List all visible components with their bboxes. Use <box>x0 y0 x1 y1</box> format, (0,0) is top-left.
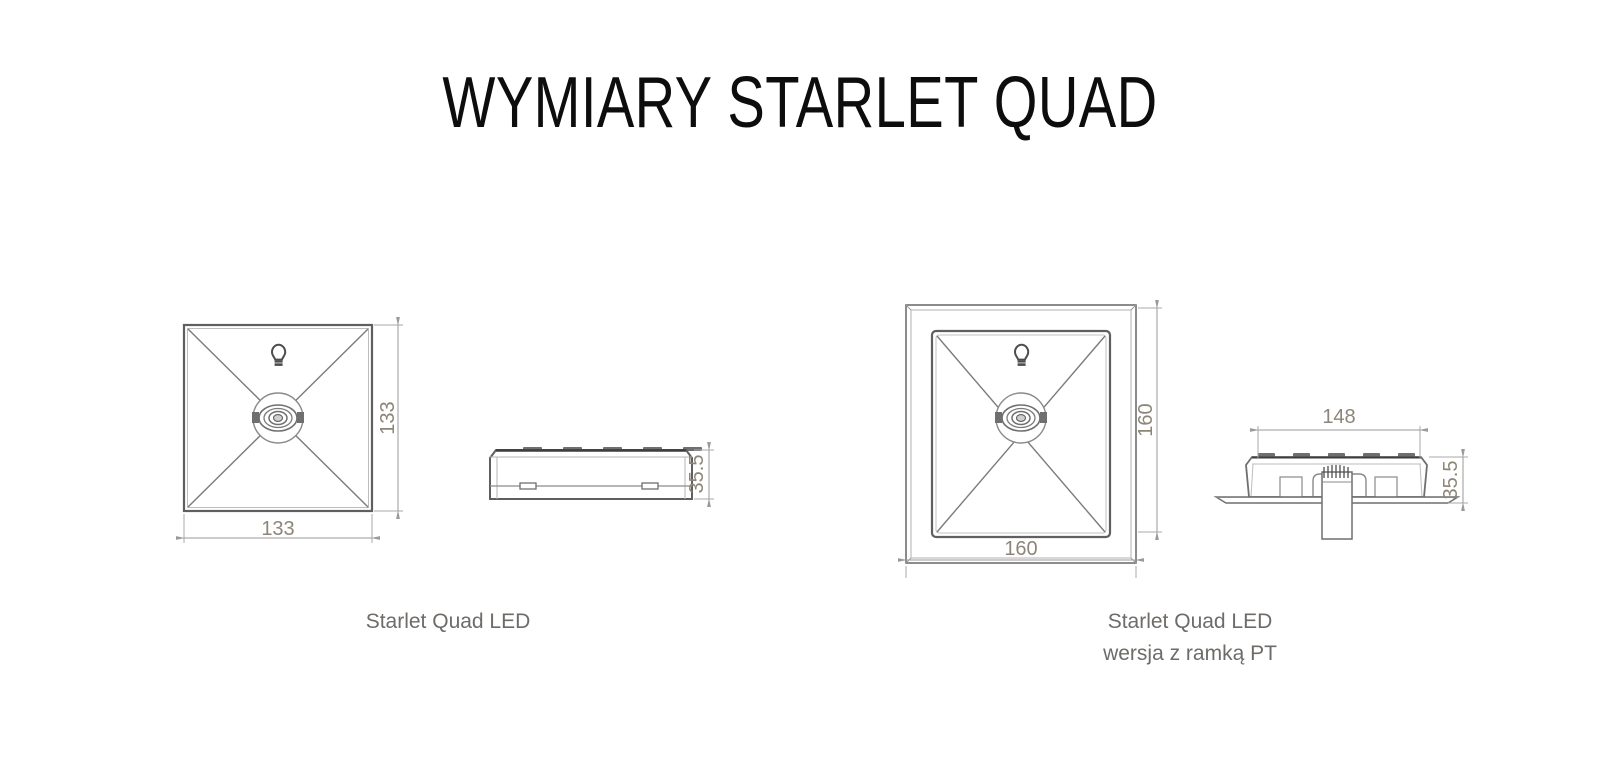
product-starlet-quad-led: 133 133 <box>184 325 714 543</box>
mounting-stem <box>1322 465 1352 539</box>
dimension-label-148: 148 <box>1322 406 1355 428</box>
caption-line: Starlet Quad LED <box>268 606 628 638</box>
caption-line-2: wersja z ramką PT <box>1010 638 1370 670</box>
caption-starlet-quad-led: Starlet Quad LED <box>268 606 628 638</box>
side-view-body <box>490 447 702 499</box>
center-lens-housing <box>252 393 304 443</box>
dimension-label-160-horizontal: 160 <box>1004 538 1037 560</box>
top-view-framed-body <box>906 305 1136 563</box>
dimension-label-160-vertical: 160 <box>1135 403 1157 436</box>
product-starlet-quad-led-ramka-pt: 160 160 <box>906 305 1468 578</box>
dimension-label-35-5-left: 35.5 <box>686 455 708 494</box>
dimension-label-133-horizontal: 133 <box>261 518 294 540</box>
coil-connector <box>1324 465 1348 478</box>
dimension-label-133-vertical: 133 <box>377 401 399 434</box>
dimension-label-35-5-right: 35.5 <box>1440 461 1462 500</box>
center-lens-housing-framed <box>995 393 1047 443</box>
caption-line-1: Starlet Quad LED <box>1010 606 1370 638</box>
top-view-body <box>184 325 372 511</box>
side-view-recessed-body <box>1216 453 1458 539</box>
caption-starlet-quad-led-ramka-pt: Starlet Quad LED wersja z ramką PT <box>1010 606 1370 670</box>
